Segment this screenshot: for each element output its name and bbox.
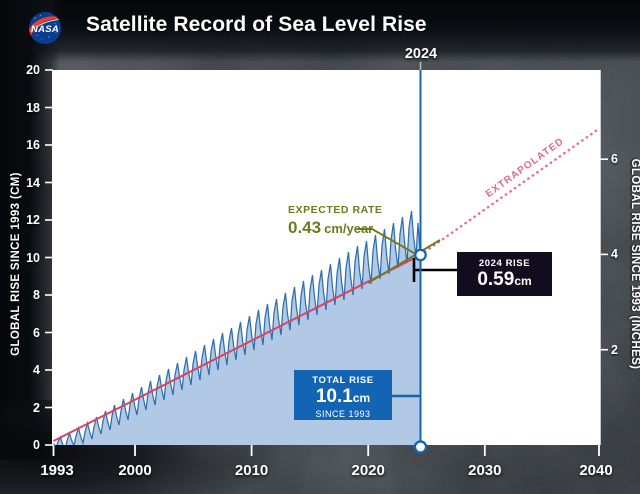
rise-2024-value: 0.59 <box>477 269 514 290</box>
left-axis-ticks <box>45 70 53 445</box>
ytick-20: 20 <box>6 63 40 77</box>
ytick-16: 16 <box>6 138 40 152</box>
xtick-2020: 2020 <box>352 462 385 479</box>
expected-rate-unit: cm/year <box>324 221 373 236</box>
xtick-2030: 2030 <box>468 462 501 479</box>
xtick-2010: 2010 <box>235 462 268 479</box>
rise-2024-unit: cm <box>514 274 531 288</box>
rise-2024-callout: 2024 RISE 0.59cm <box>457 252 552 296</box>
ytick-2: 2 <box>6 401 40 415</box>
ytick-18: 18 <box>6 101 40 115</box>
left-axis-title: GLOBAL RISE SINCE 1993 (CM) <box>10 154 22 374</box>
year-marker-label: 2024 <box>405 46 437 62</box>
expected-rate-heading: EXPECTED RATE <box>288 204 382 216</box>
ytick-0: 0 <box>6 438 40 452</box>
xtick-2000: 2000 <box>118 462 151 479</box>
total-rise-value-row: 10.1cm <box>294 387 392 408</box>
right-axis-title: GLOBAL RISE SINCE 1993 (INCHES) <box>629 154 640 374</box>
expected-rate-value-row: 0.43cm/year <box>288 218 382 238</box>
year-marker-point-top <box>415 250 425 260</box>
expected-rate-annotation: EXPECTED RATE 0.43cm/year <box>288 204 382 238</box>
xtick-1993: 1993 <box>40 462 73 479</box>
total-rise-value: 10.1 <box>316 386 353 407</box>
total-rise-heading: TOTAL RISE <box>294 375 392 386</box>
xtick-2040: 2040 <box>579 462 612 479</box>
total-rise-subtext: SINCE 1993 <box>294 409 392 419</box>
x-axis-ticks <box>54 445 600 456</box>
rise-2024-heading: 2024 RISE <box>457 258 552 269</box>
total-rise-callout: TOTAL RISE 10.1cm SINCE 1993 <box>294 370 392 420</box>
screenshot-root: NASA Satellite Record of Sea Level Rise <box>0 0 640 494</box>
rise-2024-value-row: 0.59cm <box>457 270 552 291</box>
total-rise-unit: cm <box>353 391 370 405</box>
expected-rate-value: 0.43 <box>288 218 321 237</box>
year-marker-point-axis <box>415 441 426 452</box>
